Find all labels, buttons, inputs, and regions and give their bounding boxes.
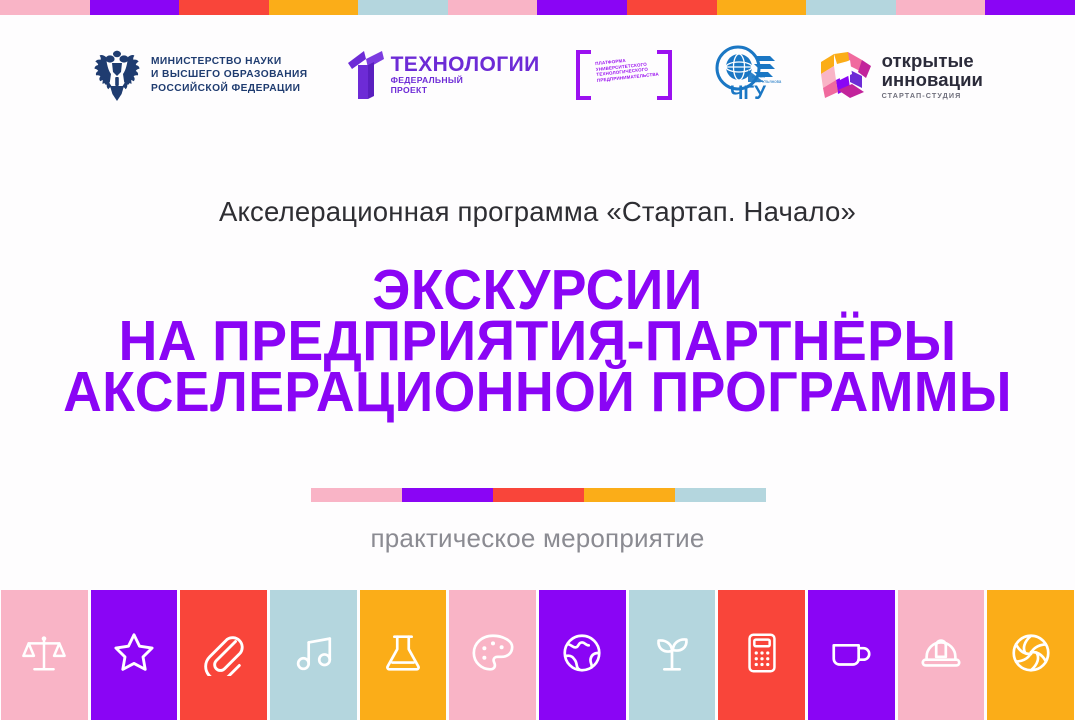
sprout-icon <box>649 630 695 681</box>
program-kicker: Акселерационная программа «Стартап. Нача… <box>0 196 1075 228</box>
top-stripe-segment-5 <box>358 0 448 15</box>
scales-icon <box>21 630 67 681</box>
globe-book-arrows-mark-icon: ЧГУ имени И.Н. Ульянова <box>708 44 782 107</box>
logo-technologies-title: ТЕХНОЛОГИИ <box>391 53 540 76</box>
icon-tile-1[interactable] <box>1 590 88 720</box>
color-divider <box>311 488 766 502</box>
icon-tile-6[interactable] <box>449 590 536 720</box>
aperture-icon <box>1008 630 1054 681</box>
page-title-line-3: АКСЕЛЕРАЦИОННОЙ ПРОГРАММЫ <box>32 367 1043 418</box>
technologies-arrow-mark-icon <box>344 49 386 101</box>
russian-double-headed-eagle-icon <box>92 48 142 102</box>
bracket-left-icon <box>576 50 591 100</box>
icon-tile-7[interactable] <box>539 590 626 720</box>
logo-ministry-text: МИНИСТЕРСТВО НАУКИИ ВЫСШЕГО ОБРАЗОВАНИЯР… <box>151 55 308 95</box>
icon-tile-12[interactable] <box>987 590 1074 720</box>
divider-segment-2 <box>402 488 493 502</box>
logo-ministry-of-science: МИНИСТЕРСТВО НАУКИИ ВЫСШЕГО ОБРАЗОВАНИЯР… <box>92 48 308 102</box>
top-stripe-segment-12 <box>985 0 1075 15</box>
logo-platform-text: ПЛАТФОРМАУНИВЕРСИТЕТСКОГОТЕХНОЛОГИЧЕСКОГ… <box>595 55 655 83</box>
palette-icon <box>470 630 516 681</box>
event-type-subtitle: практическое мероприятие <box>0 523 1075 554</box>
hard-hat-icon <box>918 630 964 681</box>
icon-tile-9[interactable] <box>718 590 805 720</box>
top-stripe-segment-6 <box>448 0 538 15</box>
divider-segment-4 <box>584 488 675 502</box>
top-stripe-segment-7 <box>537 0 627 15</box>
bottom-icon-strip <box>0 590 1075 720</box>
top-stripe-segment-4 <box>269 0 359 15</box>
partner-logo-row: МИНИСТЕРСТВО НАУКИИ ВЫСШЕГО ОБРАЗОВАНИЯР… <box>0 42 1075 108</box>
icon-tile-8[interactable] <box>629 590 716 720</box>
logo-university-tech-entrepreneurship-platform: ПЛАТФОРМАУНИВЕРСИТЕТСКОГОТЕХНОЛОГИЧЕСКОГ… <box>576 50 672 100</box>
top-stripe-segment-1 <box>0 0 90 15</box>
icon-tile-10[interactable] <box>808 590 895 720</box>
top-stripe-segment-8 <box>627 0 717 15</box>
logo-open-innovations-line2: инновации <box>882 70 983 89</box>
top-stripe-segment-3 <box>179 0 269 15</box>
svg-text:ЧГУ: ЧГУ <box>730 83 766 102</box>
top-stripe-segment-9 <box>717 0 807 15</box>
icon-tile-11[interactable] <box>898 590 985 720</box>
top-stripe-segment-10 <box>806 0 896 15</box>
star-icon <box>111 630 157 681</box>
divider-segment-5 <box>675 488 766 502</box>
logo-open-innovations-line1: открытые <box>882 51 983 70</box>
icon-tile-5[interactable] <box>360 590 447 720</box>
logo-federal-project-technologies: ТЕХНОЛОГИИ ФЕДЕРАЛЬНЫЙПРОЕКТ <box>344 49 540 101</box>
icon-tile-2[interactable] <box>91 590 178 720</box>
paperclip-icon <box>201 630 247 681</box>
logo-open-innovations: открытые инновации СТАРТАП-СТУДИЯ <box>818 48 983 102</box>
logo-technologies-subtitle: ФЕДЕРАЛЬНЫЙПРОЕКТ <box>391 76 540 95</box>
page-title: ЭКСКУРСИИ НА ПРЕДПРИЯТИЯ-ПАРТНЁРЫ АКСЕЛЕ… <box>32 265 1043 418</box>
top-color-stripe <box>0 0 1075 15</box>
logo-chuvash-state-university: ЧГУ имени И.Н. Ульянова <box>708 46 782 104</box>
icon-tile-4[interactable] <box>270 590 357 720</box>
logo-open-innovations-tagline: СТАРТАП-СТУДИЯ <box>882 91 983 100</box>
divider-segment-3 <box>493 488 584 502</box>
calculator-icon <box>739 630 785 681</box>
hexagon-cube-mark-icon <box>818 48 874 102</box>
globe-icon <box>559 630 605 681</box>
icon-tile-3[interactable] <box>180 590 267 720</box>
music-note-icon <box>290 630 336 681</box>
svg-text:И.Н. Ульянова: И.Н. Ульянова <box>752 79 782 84</box>
flask-icon <box>380 630 426 681</box>
divider-segment-1 <box>311 488 402 502</box>
top-stripe-segment-2 <box>90 0 180 15</box>
top-stripe-segment-11 <box>896 0 986 15</box>
mug-icon <box>828 630 874 681</box>
